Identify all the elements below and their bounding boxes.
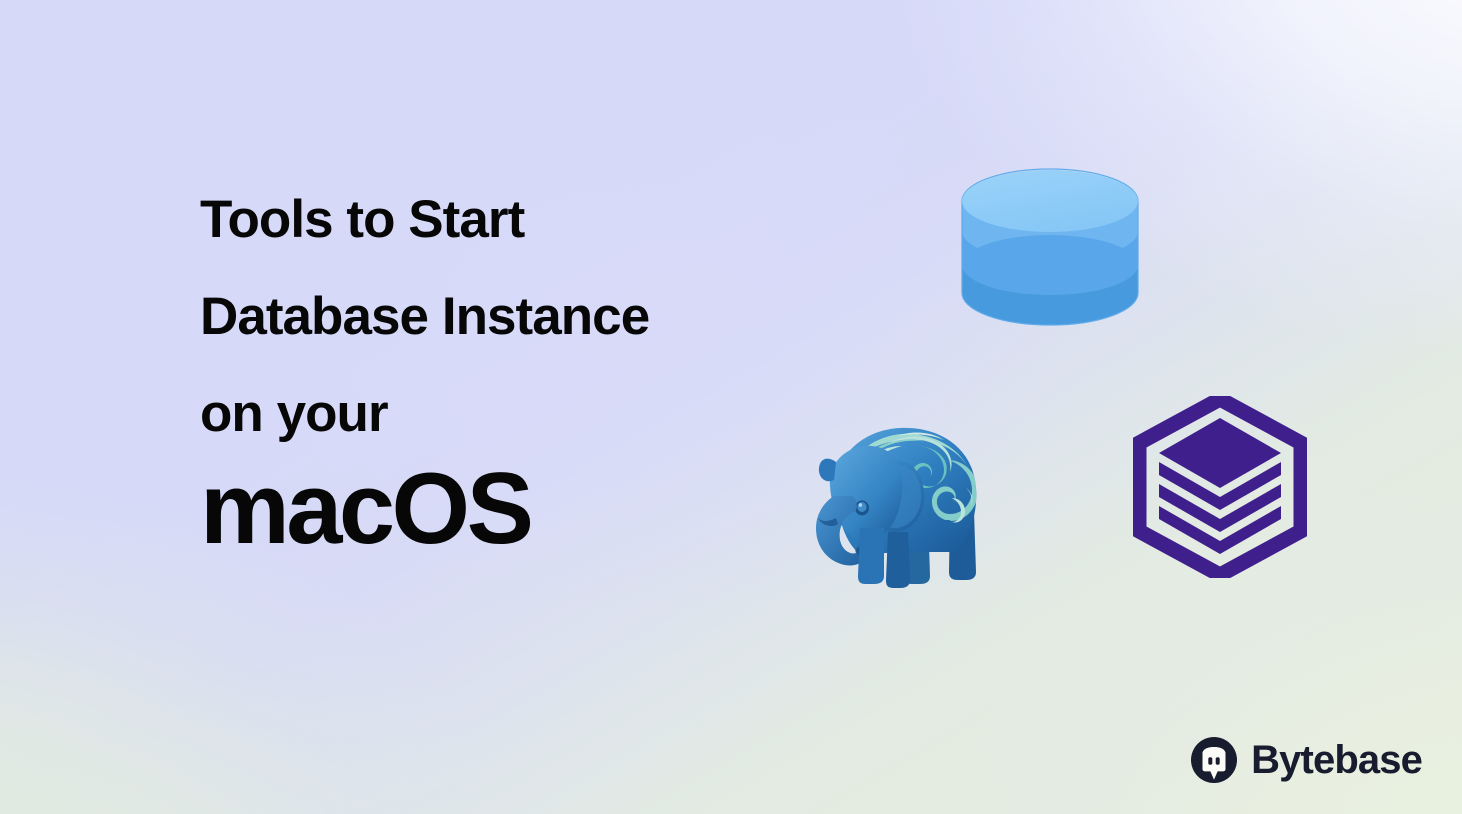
headline-block: Tools to Start Database Instance on your… [200, 172, 900, 564]
headline-line-1: Tools to Start [200, 172, 900, 268]
bytebase-brand-lockup: Bytebase [1190, 736, 1422, 784]
bytebase-wordmark: Bytebase [1251, 740, 1422, 780]
headline-line-3: on your [200, 365, 900, 462]
headline-line-4-macos: macOS [200, 454, 900, 564]
bytebase-logo-mark [1190, 736, 1238, 784]
headline-line-2: Database Instance [200, 268, 900, 365]
database-cylinder-icon [958, 167, 1142, 327]
bytebase-hexagon-logo [1133, 396, 1307, 578]
postgres-elephant-figurine [800, 400, 996, 590]
banner-canvas: Tools to Start Database Instance on your… [0, 0, 1462, 814]
